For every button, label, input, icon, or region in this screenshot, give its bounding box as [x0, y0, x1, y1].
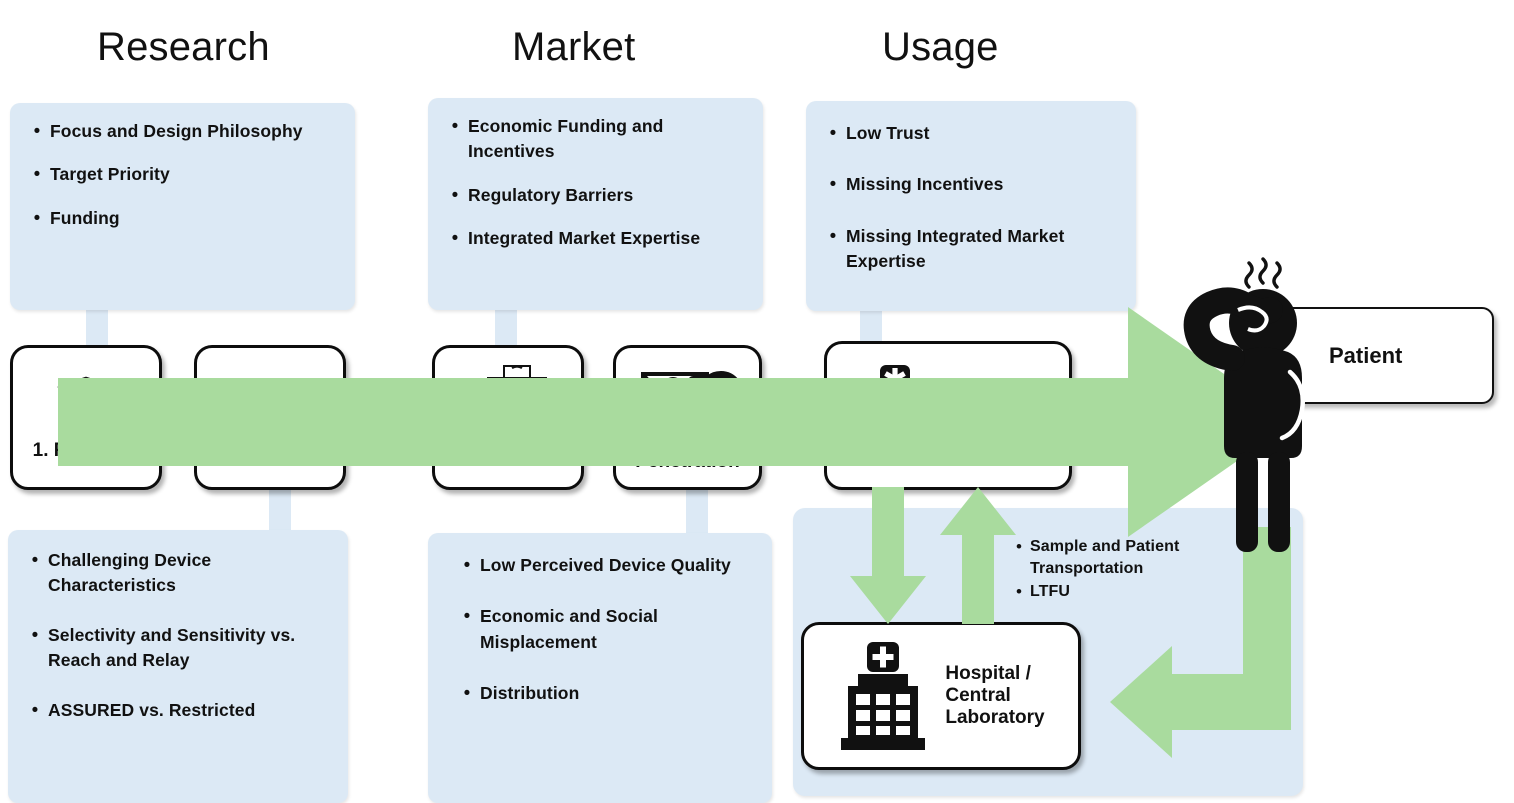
clinic-building-icon: [853, 363, 933, 468]
bullet-item: • Sample and Patient Transportation: [1008, 536, 1303, 579]
bullet-dot: •: [820, 172, 846, 197]
process-node-prototype[interactable]: 2. Prototype: [194, 345, 346, 490]
bullet-item: • Low Perceived Device Quality: [454, 553, 758, 578]
bullet-item: • Selectivity and Sensitivity vs. Reach …: [22, 623, 334, 674]
callout-market-top: • Economic Funding and Incentives • Regu…: [428, 98, 763, 310]
callout-research-top: • Focus and Design Philosophy • Target P…: [10, 103, 355, 310]
svg-text:$: $: [668, 380, 677, 399]
bullet-dot: •: [442, 183, 468, 208]
actor-node-label: Rural Healthcare Provider: [945, 382, 1042, 448]
bullet-dot: •: [24, 206, 50, 231]
callout-research-bottom: • Challenging Device Characteristics • S…: [8, 530, 348, 803]
graduate-icon: [53, 372, 119, 434]
process-node-research[interactable]: 1. Research: [10, 345, 162, 490]
bullet-dot: •: [22, 548, 48, 573]
bullet-item: • Focus and Design Philosophy: [24, 119, 341, 144]
bullet-dot: •: [22, 623, 48, 648]
bullet-item: • Funding: [24, 206, 341, 231]
hospital-building-icon: [837, 640, 933, 752]
bullet-item: • Economic Funding and Incentives: [442, 114, 749, 165]
bullet-dot: •: [442, 114, 468, 139]
callout-usage-top: • Low Trust • Missing Incentives • Missi…: [806, 101, 1136, 311]
bullet-item: • Distribution: [454, 681, 758, 706]
bullet-item: • Regulatory Barriers: [442, 183, 749, 208]
patient-label-text: Patient: [1329, 343, 1402, 369]
bullet-item: • Economic and Social Misplacement: [454, 604, 758, 655]
column-title-research: Research: [97, 27, 270, 67]
process-node-label: 3. Market Introduction: [453, 427, 564, 471]
bullet-item: • ASSURED vs. Restricted: [22, 698, 334, 723]
bullet-item: • Integrated Market Expertise: [442, 226, 749, 251]
bullet-dot: •: [820, 224, 846, 249]
process-node-label: 2. Prototype: [215, 439, 325, 461]
bullet-dot: •: [454, 553, 480, 578]
actor-node-hospital-lab[interactable]: Hospital / Central Laboratory: [801, 622, 1081, 770]
actor-node-rural-provider[interactable]: Rural Healthcare Provider: [824, 341, 1072, 490]
bullet-item: • LTFU: [1008, 581, 1303, 603]
bullet-item: • Low Trust: [820, 121, 1122, 146]
bullet-dot: •: [1008, 536, 1030, 558]
bullet-item: • Challenging Device Characteristics: [22, 548, 334, 599]
column-title-market: Market: [512, 27, 635, 67]
bullet-dot: •: [1008, 581, 1030, 603]
bullet-dot: •: [820, 121, 846, 146]
bullet-item: • Target Priority: [24, 162, 341, 187]
process-node-market-penetration[interactable]: $ 4. Market Penetration: [613, 345, 762, 490]
bullet-dot: •: [454, 681, 480, 706]
bullet-item: • Missing Integrated Market Expertise: [820, 224, 1122, 275]
gear-pencil-icon: [236, 373, 304, 435]
hand-thermometer-kit-icon: [452, 364, 564, 426]
bullet-dot: •: [24, 119, 50, 144]
diagram-canvas: Research Market Usage • Focus and Design…: [0, 0, 1514, 803]
bullet-item: • Missing Incentives: [820, 172, 1122, 197]
money-hand-icon: $: [635, 362, 741, 418]
bullet-dot: •: [442, 226, 468, 251]
process-node-label: 1. Research: [33, 440, 140, 462]
actor-node-label: Hospital / Central Laboratory: [945, 663, 1044, 729]
callout-market-bottom: • Low Perceived Device Quality • Economi…: [428, 533, 772, 803]
bullet-dot: •: [22, 698, 48, 723]
bullet-dot: •: [24, 162, 50, 187]
process-node-market-introduction[interactable]: 3. Market Introduction: [432, 345, 584, 490]
column-title-usage: Usage: [882, 27, 999, 67]
patient-label-box[interactable]: Patient: [1265, 307, 1494, 404]
process-node-label: 4. Market Penetration: [635, 428, 740, 472]
bullet-dot: •: [454, 604, 480, 629]
